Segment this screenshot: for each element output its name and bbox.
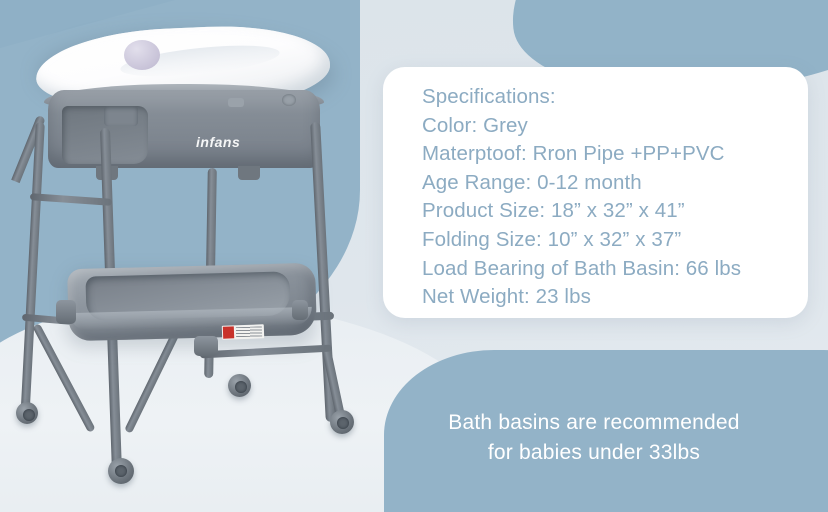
bath-tub-hinge [282,94,296,106]
product-poster: infans Specifications: Color: Grey [0,0,828,512]
spec-line-color: Color: Grey [422,112,788,141]
caster-wheel-front-left [16,402,38,424]
spec-line-age-range: Age Range: 0-12 month [422,169,788,198]
bath-tub-drain [104,106,138,126]
product-image: infans [0,18,380,512]
bath-basin-caption: Bath basins are recommended for babies u… [396,408,792,468]
frame-joint-right [292,300,308,320]
changing-pad-knob [124,40,160,70]
caster-wheel-rear-right [330,410,354,434]
frame-crossbar-upper [30,193,112,206]
spec-line-heading: Specifications: [422,83,788,112]
caster-wheel-front-center [108,458,134,484]
specifications-card: Specifications: Color: Grey Materptoof: … [383,67,808,318]
brand-logo: infans [196,134,240,150]
spec-line-net-weight: Net Weight: 23 lbs [422,283,788,312]
caption-line-1: Bath basins are recommended [396,408,792,438]
warning-triangle-icon [223,326,234,338]
bath-tub-clip [228,98,244,107]
warning-label-text-lines [236,326,262,337]
caster-wheel-rear-center [228,374,251,397]
frame-joint-left [56,300,76,324]
spec-line-folding-size: Folding Size: 10” x 32” x 37” [422,226,788,255]
spec-line-material: Materptoof: Rron Pipe +PP+PVC [422,140,788,169]
spec-line-product-size: Product Size: 18” x 32” x 41” [422,197,788,226]
frame-joint-center [194,336,218,356]
caption-line-2: for babies under 33lbs [396,438,792,468]
warning-label-sticker [222,324,264,339]
spec-line-load-bearing: Load Bearing of Bath Basin: 66 lbs [422,255,788,284]
bath-tub-foot-right [238,166,260,180]
